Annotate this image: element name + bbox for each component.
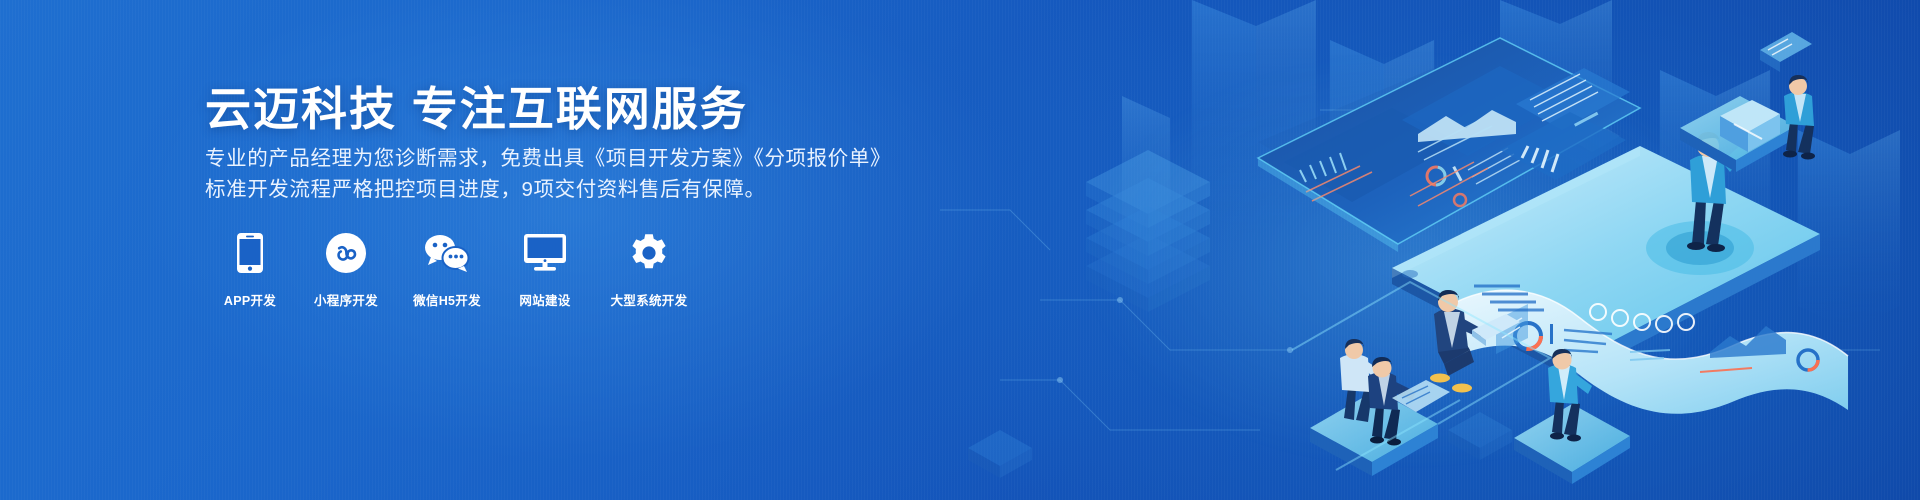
banner-subtitle: 专业的产品经理为您诊断需求，免费出具《项目开发方案》《分项报价单》 标准开发流程…: [205, 143, 905, 205]
subtitle-line-1: 专业的产品经理为您诊断需求，免费出具《项目开发方案》《分项报价单》: [205, 143, 905, 174]
service-item-large-system[interactable]: 大型系统开发: [601, 232, 697, 309]
hero-banner: 云迈科技 专注互联网服务 专业的产品经理为您诊断需求，免费出具《项目开发方案》《…: [0, 0, 1920, 500]
wechat-icon: [424, 232, 470, 274]
mobile-phone-icon: [237, 232, 263, 274]
service-label-wechat-h5: 微信H5开发: [413, 290, 481, 309]
service-item-mini-program[interactable]: 小程序开发: [306, 232, 386, 309]
service-label-app: APP开发: [224, 290, 276, 309]
service-item-wechat[interactable]: 微信H5开发: [405, 232, 489, 309]
monitor-icon: [524, 232, 566, 274]
service-label-large-system: 大型系统开发: [611, 290, 688, 309]
isometric-illustration-svg: [940, 0, 1920, 500]
hero-illustration: [940, 0, 1920, 500]
page-title: 云迈科技 专注互联网服务: [205, 73, 748, 139]
right-platform-group: [1680, 32, 1815, 172]
subtitle-line-2: 标准开发流程严格把控项目进度，9项交付资料售后有保障。: [205, 174, 905, 205]
service-label-website: 网站建设: [519, 290, 570, 309]
service-item-website[interactable]: 网站建设: [508, 232, 582, 309]
service-list: APP开发 小程序开发: [213, 232, 697, 309]
service-label-mini-program: 小程序开发: [314, 290, 378, 309]
banner-content: 云迈科技 专注互联网服务 专业的产品经理为您诊断需求，免费出具《项目开发方案》《…: [205, 0, 965, 500]
service-item-app[interactable]: APP开发: [213, 232, 287, 309]
mini-program-icon: [326, 232, 366, 274]
gear-icon: [629, 232, 669, 274]
